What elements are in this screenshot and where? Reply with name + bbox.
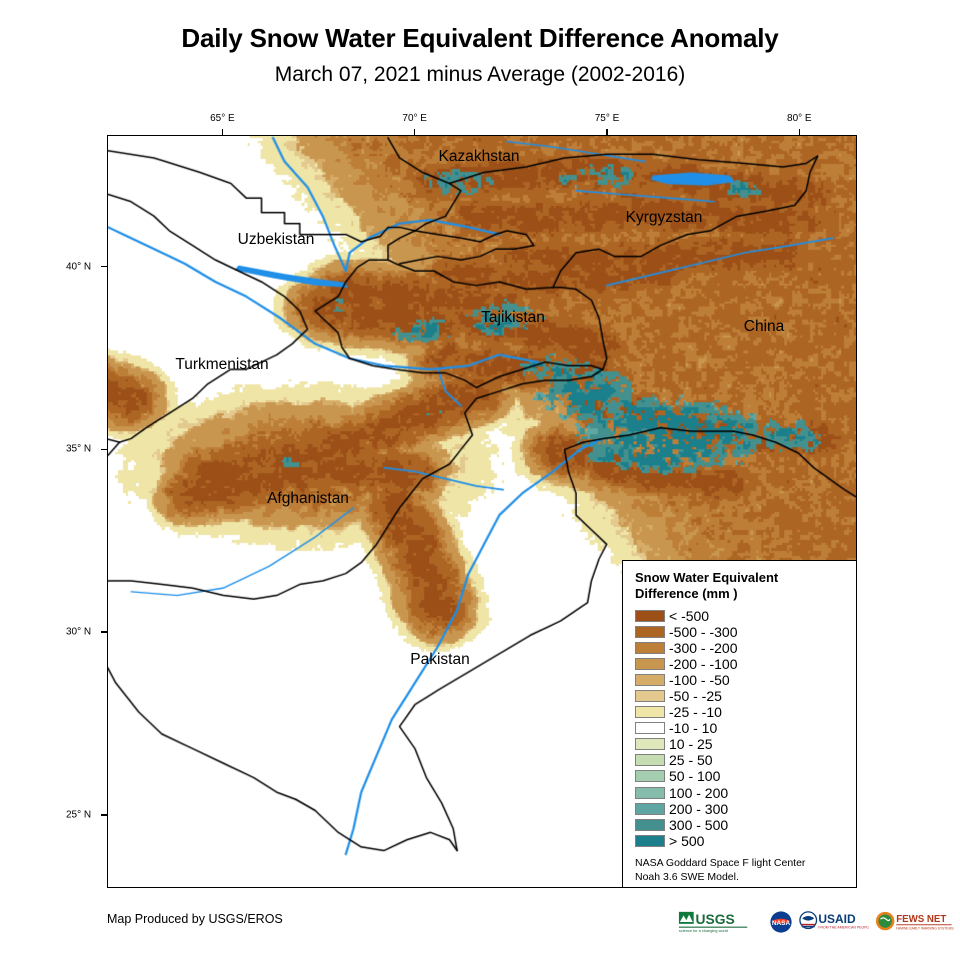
legend-row: -300 - -200 [635, 640, 846, 656]
legend-class-label: -10 - 10 [669, 721, 717, 735]
legend-swatch [635, 770, 665, 782]
legend-row: -50 - -25 [635, 688, 846, 704]
lat-tick-mark [101, 631, 108, 633]
lat-tick-mark [101, 814, 108, 816]
svg-text:FROM THE AMERICAN PEOPLE: FROM THE AMERICAN PEOPLE [818, 925, 869, 929]
legend-row: -500 - -300 [635, 624, 846, 640]
legend-swatch [635, 722, 665, 734]
legend-class-label: 10 - 25 [669, 737, 713, 751]
lon-tick-label: 70° E [402, 113, 427, 124]
legend-row: < -500 [635, 608, 846, 624]
legend-class-label: -500 - -300 [669, 625, 737, 639]
legend-swatch [635, 787, 665, 799]
usgs-logo: USGS science for a changing world [678, 910, 763, 934]
legend-class-label: -100 - -50 [669, 673, 730, 687]
legend-source-note: NASA Goddard Space F light Center Noah 3… [635, 856, 846, 884]
legend-swatch [635, 835, 665, 847]
legend-swatch [635, 738, 665, 750]
page-subtitle: March 07, 2021 minus Average (2002-2016) [0, 63, 960, 87]
legend-row: -25 - -10 [635, 704, 846, 720]
legend-swatch [635, 658, 665, 670]
lat-tick-label: 40° N [66, 261, 91, 272]
lat-tick-label: 30° N [66, 627, 91, 638]
svg-text:FAMINE EARLY WARNING SYSTEMS N: FAMINE EARLY WARNING SYSTEMS NETWORK [896, 926, 954, 930]
logo-strip: USGS science for a changing world NASA U… [678, 909, 954, 935]
legend-class-label: 100 - 200 [669, 786, 728, 800]
legend-swatch [635, 642, 665, 654]
page-title: Daily Snow Water Equivalent Difference A… [0, 24, 960, 54]
legend-swatch [635, 819, 665, 831]
legend-row: 100 - 200 [635, 785, 846, 801]
legend-class-label: 200 - 300 [669, 802, 728, 816]
legend: Snow Water Equivalent Difference (mm ) <… [622, 560, 857, 888]
lat-tick-mark [101, 266, 108, 268]
legend-class-label: -200 - -100 [669, 657, 737, 671]
svg-text:NASA: NASA [772, 920, 791, 927]
lon-tick-label: 65° E [210, 113, 235, 124]
lon-tick-label: 80° E [787, 113, 812, 124]
legend-class-label: < -500 [669, 609, 709, 623]
legend-row: -200 - -100 [635, 656, 846, 672]
legend-row: 300 - 500 [635, 817, 846, 833]
lat-tick-label: 35° N [66, 444, 91, 455]
svg-text:USAID: USAID [818, 912, 856, 926]
legend-row: 50 - 100 [635, 768, 846, 784]
lon-tick-mark [799, 129, 801, 136]
legend-class-label: > 500 [669, 834, 704, 848]
legend-class-label: 25 - 50 [669, 753, 713, 767]
legend-class-label: -300 - -200 [669, 641, 737, 655]
legend-swatch [635, 626, 665, 638]
legend-row: -10 - 10 [635, 720, 846, 736]
footer-credit: Map Produced by USGS/EROS [107, 912, 283, 926]
lon-tick-label: 75° E [595, 113, 620, 124]
nasa-logo: NASA [769, 910, 793, 934]
legend-swatch [635, 690, 665, 702]
fewsnet-logo: FEWS NET FAMINE EARLY WARNING SYSTEMS NE… [875, 910, 954, 934]
legend-title: Snow Water Equivalent Difference (mm ) [635, 570, 846, 603]
legend-swatch [635, 803, 665, 815]
legend-row: 25 - 50 [635, 752, 846, 768]
lon-tick-mark [414, 129, 416, 136]
legend-class-label: 300 - 500 [669, 818, 728, 832]
lat-tick-mark [101, 449, 108, 451]
legend-row: 10 - 25 [635, 736, 846, 752]
svg-text:science for a changing world: science for a changing world [679, 928, 728, 933]
title-block: Daily Snow Water Equivalent Difference A… [0, 24, 960, 87]
legend-row: 200 - 300 [635, 801, 846, 817]
lon-tick-mark [222, 129, 224, 136]
legend-row: -100 - -50 [635, 672, 846, 688]
lon-tick-mark [606, 129, 608, 136]
legend-swatch [635, 610, 665, 622]
legend-swatch [635, 706, 665, 718]
legend-class-label: 50 - 100 [669, 769, 720, 783]
legend-swatch [635, 674, 665, 686]
legend-swatch [635, 754, 665, 766]
svg-text:FEWS NET: FEWS NET [896, 914, 946, 925]
legend-row: > 500 [635, 833, 846, 849]
legend-class-list: < -500-500 - -300-300 - -200-200 - -100-… [635, 608, 846, 849]
svg-text:USGS: USGS [696, 911, 735, 927]
legend-class-label: -50 - -25 [669, 689, 722, 703]
lat-tick-label: 25° N [66, 809, 91, 820]
legend-class-label: -25 - -10 [669, 705, 722, 719]
usaid-logo: USAID FROM THE AMERICAN PEOPLE [799, 910, 869, 934]
